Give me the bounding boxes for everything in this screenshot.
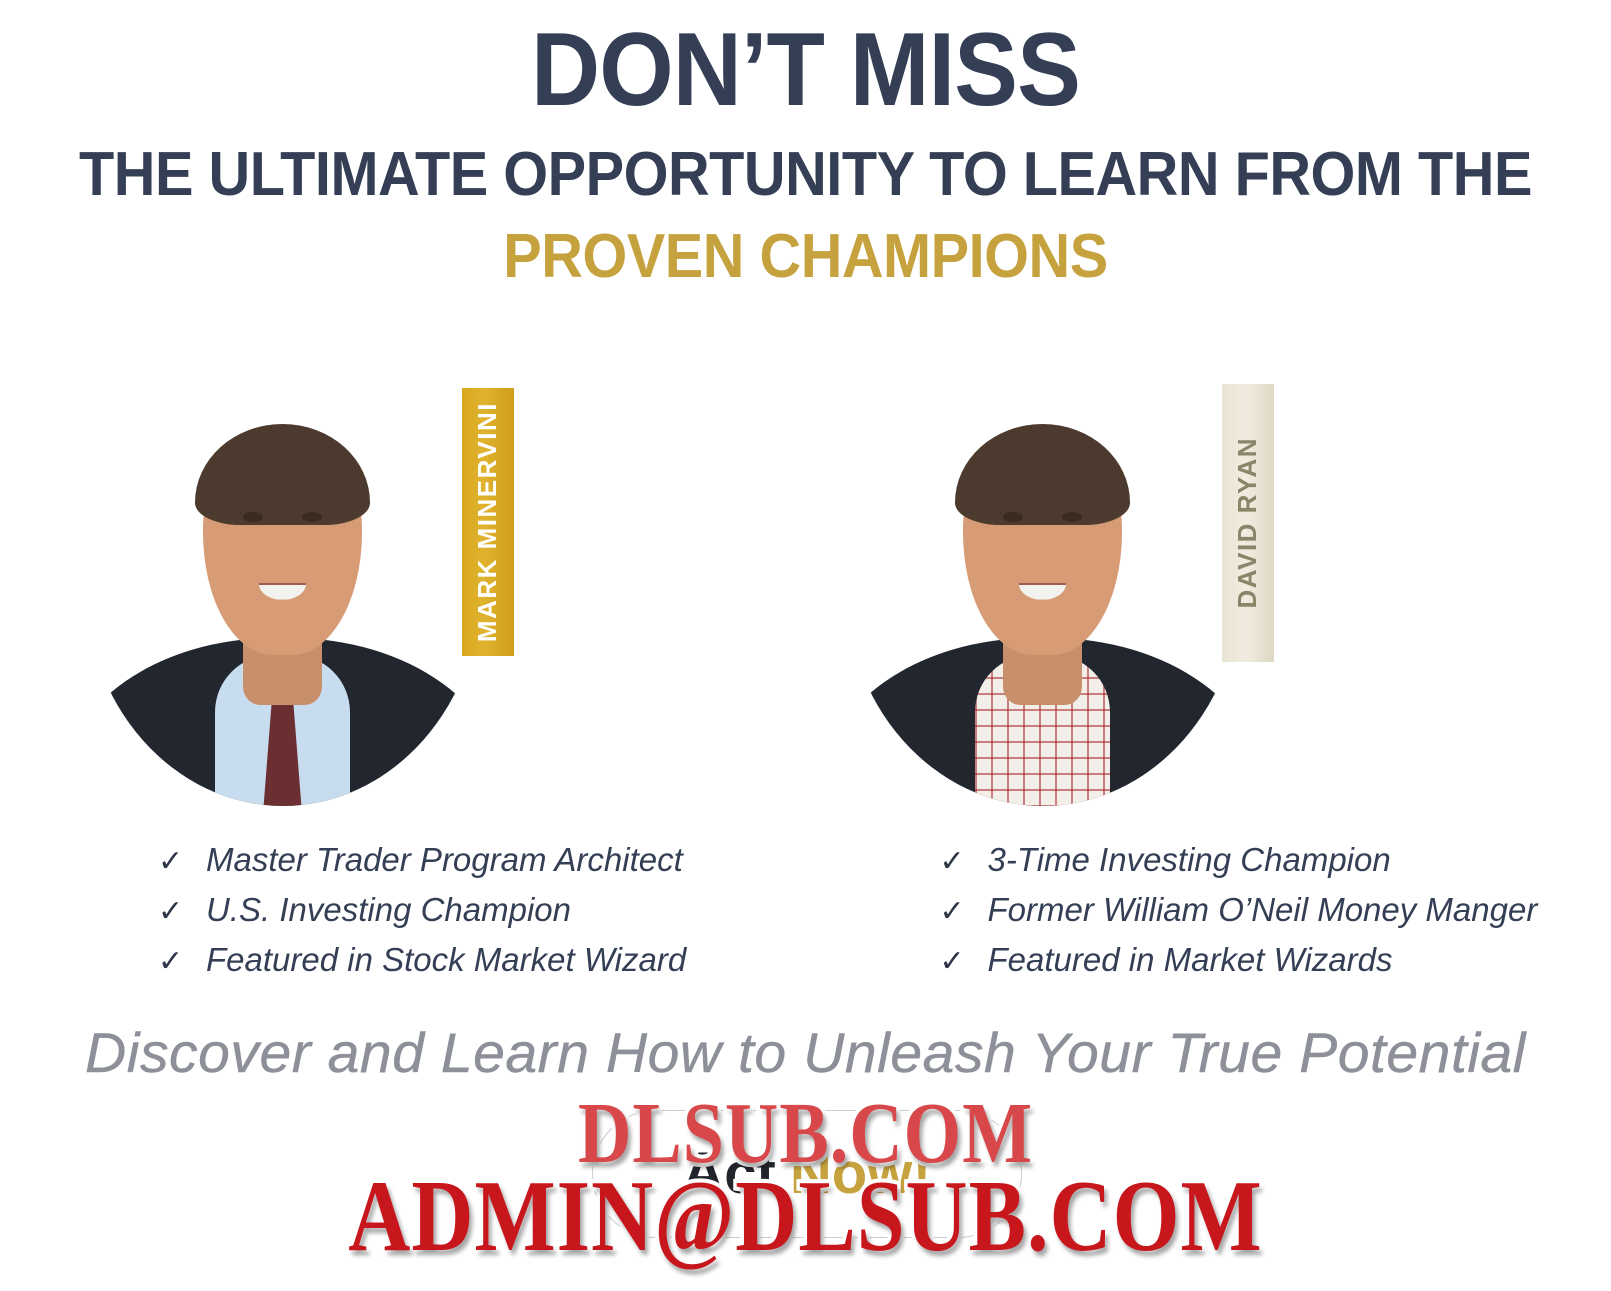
portrait-wrap-mark-minervini: MARK MINERVINI xyxy=(74,378,514,813)
list-item: ✓ 3-Time Investing Champion xyxy=(940,838,1611,888)
name-banner-david-ryan: DAVID RYAN xyxy=(1222,384,1274,662)
name-banner-label: MARK MINERVINI xyxy=(472,402,503,642)
bullet-label: Master Trader Program Architect xyxy=(206,838,683,882)
bullet-label: Former William O’Neil Money Manger xyxy=(988,888,1538,932)
list-item: ✓ Featured in Stock Market Wizard xyxy=(158,938,830,988)
portrait-artwork xyxy=(844,386,1242,806)
check-icon: ✓ xyxy=(940,847,966,877)
list-item: ✓ Former William O’Neil Money Manger xyxy=(940,888,1611,938)
check-icon: ✓ xyxy=(940,897,966,927)
eyebrow-left xyxy=(239,499,267,505)
eye-left xyxy=(1003,512,1023,522)
bullet-label: Featured in Market Wizards xyxy=(988,938,1393,982)
list-item: ✓ U.S. Investing Champion xyxy=(158,888,830,938)
check-icon: ✓ xyxy=(940,947,966,977)
cta-word-now: Now! xyxy=(790,1144,932,1204)
check-icon: ✓ xyxy=(158,897,184,927)
portrait-wrap-david-ryan: DAVID RYAN xyxy=(834,378,1274,813)
portrait-artwork xyxy=(84,386,482,806)
tagline: Discover and Learn How to Unleash Your T… xyxy=(0,1020,1611,1086)
headline-line-1: DON’T MISS xyxy=(64,14,1546,126)
list-item: ✓ Master Trader Program Architect xyxy=(158,838,830,888)
check-icon: ✓ xyxy=(158,947,184,977)
bullet-list-david-ryan: ✓ 3-Time Investing Champion ✓ Former Wil… xyxy=(830,838,1611,988)
bullet-label: U.S. Investing Champion xyxy=(206,888,571,932)
eyebrow-right xyxy=(1058,499,1086,505)
portrait-photo-mark-minervini xyxy=(84,386,482,806)
eye-left xyxy=(243,512,263,522)
headline-block: DON’T MISS THE ULTIMATE OPPORTUNITY TO L… xyxy=(0,0,1611,292)
name-banner-mark-minervini: MARK MINERVINI xyxy=(462,388,514,656)
act-now-button[interactable]: Act Now! xyxy=(592,1110,1022,1238)
headline-line-3: PROVEN CHAMPIONS xyxy=(56,222,1554,292)
bullet-list-mark-minervini: ✓ Master Trader Program Architect ✓ U.S.… xyxy=(0,838,830,988)
eyebrow-left xyxy=(999,499,1027,505)
check-icon: ✓ xyxy=(158,847,184,877)
bullets-row: ✓ Master Trader Program Architect ✓ U.S.… xyxy=(0,838,1611,988)
headline-line-2: THE ULTIMATE OPPORTUNITY TO LEARN FROM T… xyxy=(56,140,1554,210)
name-banner-label: DAVID RYAN xyxy=(1232,437,1263,609)
eyebrow-right xyxy=(298,499,326,505)
cta-word-act: Act xyxy=(682,1144,775,1204)
portrait-photo-david-ryan xyxy=(844,386,1242,806)
list-item: ✓ Featured in Market Wizards xyxy=(940,938,1611,988)
bullet-label: Featured in Stock Market Wizard xyxy=(206,938,686,982)
bullet-label: 3-Time Investing Champion xyxy=(988,838,1391,882)
